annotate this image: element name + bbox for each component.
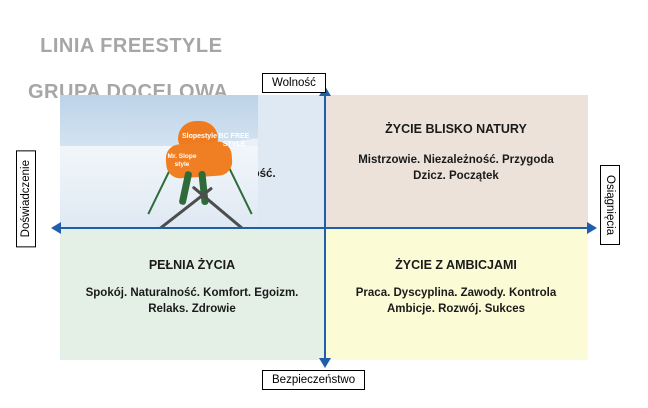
quadrant-bottom-left-heading: PEŁNIA ŻYCIA: [60, 258, 324, 272]
quadrant-top-left: Slopestyle BC FREE STYLE Mr. Slope style…: [60, 95, 324, 228]
axis-label-right: Osiągnięcia: [600, 165, 620, 245]
quadrant-bottom-right-body: Praca. Dyscyplina. Zawody. Kontrola Ambi…: [324, 285, 588, 317]
quadrant-top-right: ŻYCIE BLISKO NATURY Mistrzowie. Niezależ…: [324, 95, 588, 228]
quadrant-bottom-left: PEŁNIA ŻYCIA Spokój. Naturalność. Komfor…: [60, 228, 324, 361]
quadrant-top-right-heading: ŻYCIE BLISKO NATURY: [324, 122, 588, 136]
quadrant-bottom-left-body: Spokój. Naturalność. Komfort. Egoizm. Re…: [60, 285, 324, 317]
page-title-line1: LINIA FREESTYLE: [40, 35, 222, 57]
brand-tag-mrslopestyle: Mr. Slope style: [162, 153, 202, 168]
axis-label-left: Doświadczenie: [16, 150, 36, 247]
skier-photo: Slopestyle BC FREE STYLE Mr. Slope style: [60, 95, 258, 228]
quadrant-top-right-body: Mistrzowie. Niezależność. Przygoda Dzicz…: [324, 152, 588, 184]
brand-tag-slopestyle: Slopestyle: [182, 133, 217, 140]
quadrant-bottom-right: ŻYCIE Z AMBICJAMI Praca. Dyscyplina. Zaw…: [324, 228, 588, 361]
arrow-right-icon: [587, 222, 597, 234]
arrow-down-icon: [319, 358, 331, 368]
skier-figure: Slopestyle BC FREE STYLE Mr. Slope style: [156, 117, 248, 225]
axis-label-top: Wolność: [262, 73, 326, 93]
horizontal-axis: [60, 227, 588, 229]
quadrant-bottom-right-heading: ŻYCIE Z AMBICJAMI: [324, 258, 588, 272]
arrow-left-icon: [51, 222, 61, 234]
brand-tag-bcfreestyle: BC FREE STYLE: [216, 133, 252, 149]
axis-label-bottom: Bezpieczeństwo: [262, 370, 365, 390]
